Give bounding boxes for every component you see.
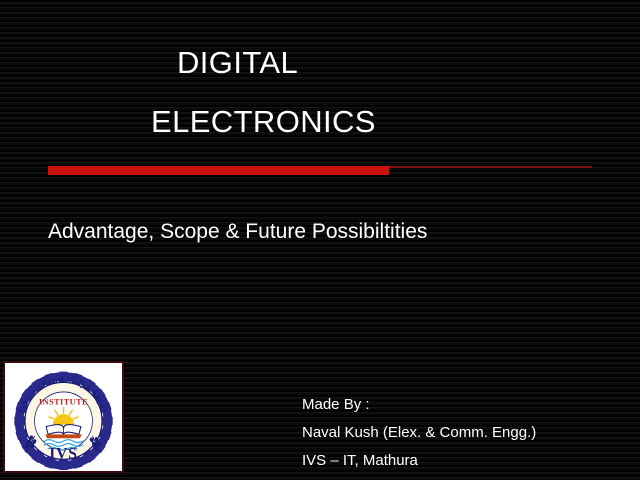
logo-acronym-text: IVS (49, 445, 78, 462)
credits-author: Naval Kush (Elex. & Comm. Engg.) (302, 419, 536, 447)
credits-affiliation: IVS – IT, Mathura (302, 447, 536, 475)
slide-subtitle: Advantage, Scope & Future Possibiltities (48, 221, 427, 242)
institute-logo-graphic: Ishwarchand Vidya Sagar INSTITUTE (5, 363, 122, 471)
institute-logo: Ishwarchand Vidya Sagar INSTITUTE (3, 361, 124, 473)
credits-label: Made By : (302, 391, 536, 419)
presentation-slide: DIGITAL ELECTRONICS Advantage, Scope & F… (0, 0, 640, 480)
red-divider (48, 165, 592, 175)
slide-title-line-1: DIGITAL (177, 47, 298, 78)
credits-block: Made By : Naval Kush (Elex. & Comm. Engg… (302, 391, 536, 475)
logo-institute-text: INSTITUTE (39, 397, 88, 406)
slide-title-line-2: ELECTRONICS (151, 106, 376, 137)
divider-thick-bar (48, 166, 389, 175)
book-icon (45, 425, 82, 439)
